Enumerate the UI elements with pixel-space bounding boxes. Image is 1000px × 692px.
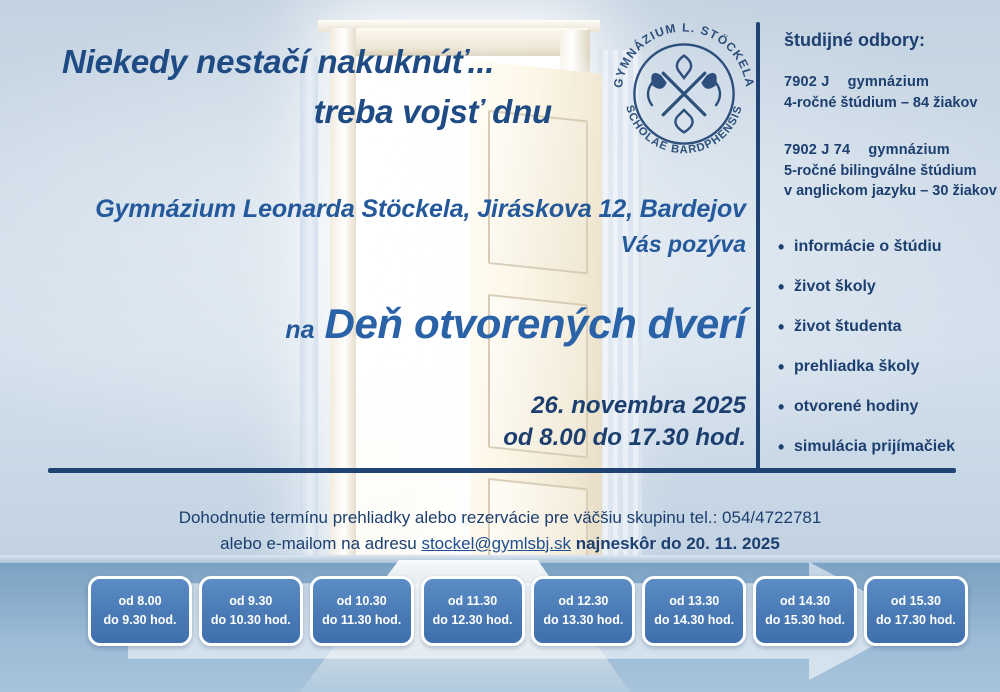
time-slot[interactable]: od 14.30 do 15.30 hod. <box>753 576 857 646</box>
time-slot[interactable]: od 11.30 do 12.30 hod. <box>421 576 525 646</box>
headline: Niekedy nestačí nakuknúť... treba vojsť … <box>62 40 722 133</box>
event-hours: od 8.00 do 17.30 hod. <box>46 422 746 454</box>
invite-text: Vás pozýva <box>46 231 746 258</box>
program-name: gymnázium <box>848 74 930 90</box>
slot-from: od 9.30 <box>229 592 272 611</box>
time-slot[interactable]: od 9.30 do 10.30 hod. <box>199 576 303 646</box>
slot-from: od 14.30 <box>780 592 830 611</box>
event-date: 26. novembra 2025 <box>46 390 746 422</box>
slot-to: do 9.30 hod. <box>104 611 177 630</box>
slot-from: od 13.30 <box>669 592 719 611</box>
program-code-line: 7902 J 74gymnázium <box>784 140 997 161</box>
slot-to: do 14.30 hod. <box>654 611 734 630</box>
program-name: gymnázium <box>868 142 950 158</box>
poster-canvas: GYMNÁZIUM L. STÖCKELA SCHOLAE BARDPHENSI… <box>0 0 1000 692</box>
time-slot[interactable]: od 13.30 do 14.30 hod. <box>642 576 746 646</box>
contact-line-2-prefix: alebo e-mailom na adresu <box>220 534 421 553</box>
contact-line-1: Dohodnutie termínu prehliadky alebo reze… <box>0 505 1000 531</box>
list-item: otvorené hodiny <box>778 398 996 416</box>
contact-block: Dohodnutie termínu prehliadky alebo reze… <box>0 505 1000 556</box>
slot-to: do 11.30 hod. <box>322 611 401 630</box>
time-slot[interactable]: od 15.30 do 17.30 hod. <box>864 576 968 646</box>
slot-from: od 11.30 <box>448 592 497 611</box>
time-slot[interactable]: od 8.00 do 9.30 hod. <box>88 576 192 646</box>
slot-to: do 17.30 hod. <box>876 611 956 630</box>
list-item: prehliadka školy <box>778 358 996 376</box>
list-item: informácie o štúdiu <box>778 238 996 256</box>
program-code: 7902 J <box>784 74 830 90</box>
event-datetime: 26. novembra 2025 od 8.00 do 17.30 hod. <box>46 390 746 453</box>
slot-to: do 13.30 hod. <box>543 611 623 630</box>
slot-from: od 8.00 <box>118 592 161 611</box>
slot-from: od 15.30 <box>891 592 941 611</box>
list-item: život školy <box>778 278 996 296</box>
program-detail-2: v anglickom jazyku – 30 žiakov <box>784 181 997 202</box>
slot-from: od 10.30 <box>337 592 387 611</box>
email-link[interactable]: stockel@gymlsbj.sk <box>421 534 571 553</box>
program-code-line: 7902 Jgymnázium <box>784 72 977 93</box>
time-slot-list: od 8.00 do 9.30 hod. od 9.30 do 10.30 ho… <box>88 576 968 646</box>
slot-to: do 12.30 hod. <box>433 611 513 630</box>
time-slot[interactable]: od 12.30 do 13.30 hod. <box>531 576 635 646</box>
event-prefix: na <box>285 316 314 344</box>
program-item: 7902 Jgymnázium 4-ročné štúdium – 84 žia… <box>784 72 977 113</box>
list-item: simulácia prijímačiek <box>778 438 996 456</box>
headline-line-2: treba vojsť dnu <box>62 90 722 134</box>
event-title: Deň otvorených dverí <box>325 300 746 347</box>
program-detail: 5-ročné bilingválne štúdium <box>784 161 997 182</box>
highlights-list: informácie o štúdiu život školy život št… <box>778 238 996 478</box>
event-title-block: naDeň otvorených dverí <box>40 300 746 348</box>
contact-line-2: alebo e-mailom na adresu stockel@gymlsbj… <box>0 531 1000 557</box>
time-slot[interactable]: od 10.30 do 11.30 hod. <box>310 576 414 646</box>
program-detail: 4-ročné štúdium – 84 žiakov <box>784 93 977 114</box>
program-code: 7902 J 74 <box>784 142 850 158</box>
vertical-divider <box>756 22 760 470</box>
slot-to: do 15.30 hod. <box>765 611 845 630</box>
headline-line-1: Niekedy nestačí nakuknúť... <box>62 43 494 80</box>
programs-heading: študijné odbory: <box>784 30 925 51</box>
contact-deadline: najneskôr do 20. 11. 2025 <box>571 534 780 553</box>
school-name: Gymnázium Leonarda Stöckela, Jiráskova 1… <box>46 195 746 224</box>
list-item: život študenta <box>778 318 996 336</box>
slot-from: od 12.30 <box>558 592 608 611</box>
program-item: 7902 J 74gymnázium 5-ročné bilingválne š… <box>784 140 997 202</box>
slot-to: do 10.30 hod. <box>211 611 291 630</box>
